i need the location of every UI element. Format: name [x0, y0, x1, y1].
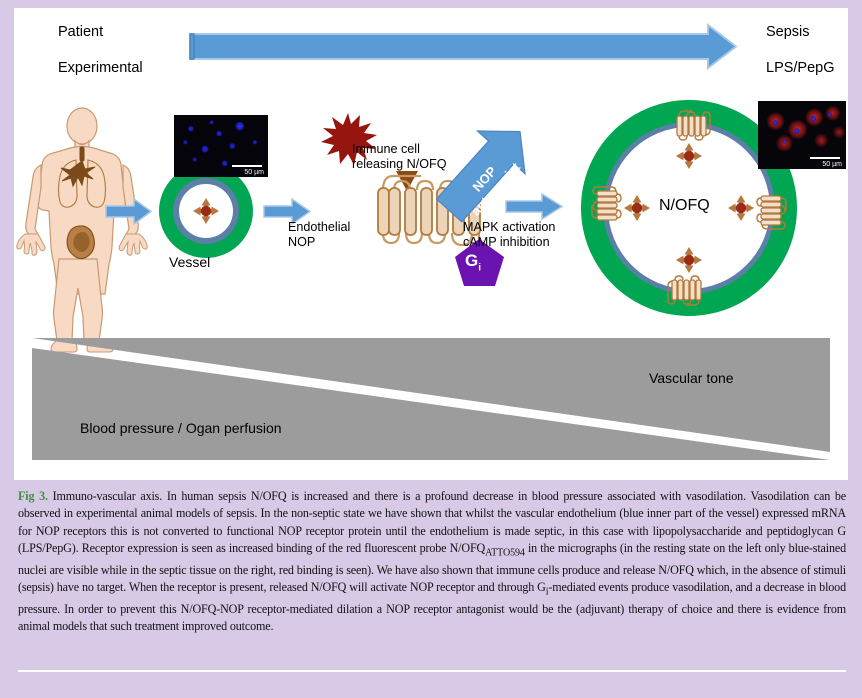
membrane-receptor-right — [757, 196, 786, 229]
label-sepsis: Sepsis — [766, 24, 810, 40]
caption-divider — [18, 670, 846, 672]
label-patient: Patient — [58, 24, 103, 40]
scale-label-right: 50 µm — [822, 161, 842, 168]
caption-area: Fig 3. Immuno-vascular axis. In human se… — [0, 483, 862, 698]
label-vascular-tone: Vascular tone — [649, 371, 734, 386]
label-immune-cell: Immune cell releasing N/OFQ — [352, 142, 446, 172]
wedge-graphics — [32, 338, 830, 460]
micrograph-septic: 50 µm — [758, 101, 846, 169]
label-lps-pepg: LPS/PepG — [766, 60, 835, 76]
figure-page: 50 µm 50 µm Patient Experimental Sepsis … — [0, 0, 862, 698]
label-blood-pressure: Blood pressure / Ogan perfusion — [80, 421, 282, 436]
endothelial-line-1: Endothelial — [288, 220, 350, 234]
immune-line-2: releasing N/OFQ — [352, 157, 446, 171]
label-nofq-center: N/OFQ — [659, 198, 710, 213]
g-protein-subscript: i — [478, 262, 481, 273]
membrane-receptor-bottom — [668, 276, 701, 305]
membrane-receptor-top — [677, 111, 710, 140]
signaling-line-2: cAMP inhibition — [463, 235, 550, 249]
vessel-nonseptic — [159, 164, 253, 258]
human-figure-graphic — [17, 108, 148, 352]
g-protein-letter: G — [465, 251, 478, 270]
progression-arrow — [190, 25, 736, 68]
arrow-body-to-vessel — [106, 199, 151, 224]
figure-caption: Fig 3. Immuno-vascular axis. In human se… — [18, 488, 846, 635]
membrane-receptor-left — [592, 187, 621, 220]
label-g-protein: Gi — [465, 251, 495, 273]
figure-panel: 50 µm 50 µm Patient Experimental Sepsis … — [14, 8, 848, 480]
immune-line-1: Immune cell — [352, 142, 420, 156]
micrograph-resting: 50 µm — [174, 115, 268, 177]
endothelial-line-2: NOP — [288, 235, 315, 249]
label-endothelial-nop: Endothelial NOP — [288, 220, 350, 250]
figure-number: Fig 3. — [18, 489, 48, 503]
label-experimental: Experimental — [58, 60, 143, 76]
scale-bar — [232, 165, 262, 167]
label-vessel: Vessel — [169, 255, 210, 270]
diagram-graphics — [14, 8, 848, 480]
scale-bar — [810, 157, 840, 159]
scale-label-left: 50 µm — [244, 169, 264, 176]
caption-subscript-1: ATTO594 — [485, 547, 525, 558]
released-ligand-triangle — [396, 171, 418, 191]
